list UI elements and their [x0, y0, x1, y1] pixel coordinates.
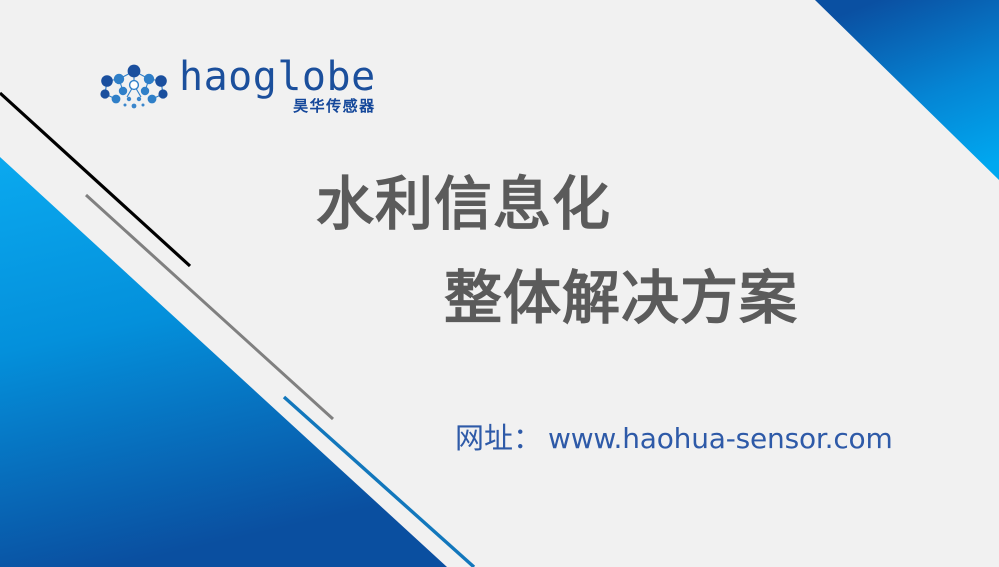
title-line-1: 水利信息化: [316, 172, 611, 236]
blue-diagonal-line: [284, 397, 474, 567]
website-label: 网址：: [455, 421, 542, 455]
logo-subtitle: 昊华传感器: [293, 98, 376, 115]
website-url[interactable]: www.haohua-sensor.com: [548, 422, 893, 456]
logo-wordmark: haoglobe: [179, 57, 376, 97]
title-line-2: 整体解决方案: [444, 266, 798, 330]
gray-diagonal-line: [86, 195, 333, 419]
slide-canvas: haoglobe 昊华传感器 水利信息化 整体解决方案 网址： www.haoh…: [0, 0, 999, 567]
company-logo[interactable]: haoglobe 昊华传感器: [96, 57, 376, 115]
top-right-blue-triangle: [815, 0, 999, 180]
website-line: 网址： www.haohua-sensor.com: [455, 421, 893, 456]
haoglobe-molecule-logo-icon: [96, 61, 172, 113]
black-diagonal-line: [0, 93, 190, 266]
